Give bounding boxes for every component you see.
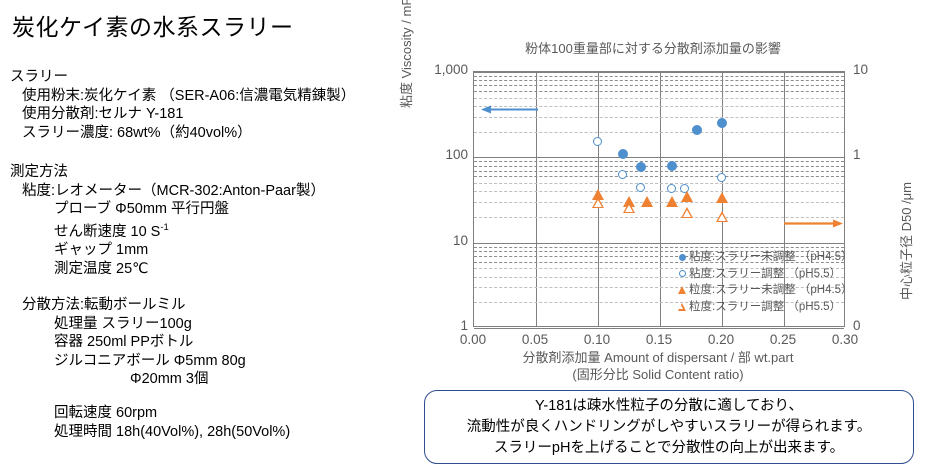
legend-label: 粒度:スラリー未調整 （pH4.5） xyxy=(689,282,853,299)
data-point-circle-open xyxy=(593,137,602,146)
method-shear-rate-label: せん断速度 10 S xyxy=(54,224,160,240)
legend-label: 粘度:スラリー未調整 （pH4.5） xyxy=(689,249,853,266)
legend-item[interactable]: 粒度:スラリー未調整 （pH4.5） xyxy=(675,282,853,299)
x-axis-tick: 0.00 xyxy=(443,332,503,347)
circle-open-icon xyxy=(675,270,689,277)
y-axis-left-tick: 1,000 xyxy=(410,62,468,77)
slurry-spec-block: スラリー 使用粉末:炭化ケイ素 （SER-A06:信濃電気精錬製） 使用分散剤:… xyxy=(10,68,355,142)
x-axis-tick: 0.05 xyxy=(505,332,565,347)
legend-item[interactable]: 粒度:スラリー調整 （pH5.5） xyxy=(675,299,853,316)
x-axis-tick: 0.15 xyxy=(629,332,689,347)
x-axis-label-main: 分散剤添加量 Amount of dispersant / 部 wt.part xyxy=(438,349,878,366)
data-point-triangle-filled xyxy=(716,192,728,203)
chart-title: 粉体100重量部に対する分散剤添加量の影響 xyxy=(418,38,888,57)
data-point-triangle-open xyxy=(681,207,693,218)
dispersion-heading: 分散方法:転動ボールミル xyxy=(10,296,290,315)
callout-line: 流動性が良くハンドリングがしやすいスラリーが得られます。 xyxy=(467,417,871,438)
conclusion-callout: Y-181は疎水性粒子の分散に適しており、 流動性が良くハンドリングがしやすいス… xyxy=(424,390,914,464)
plot-area: 粘度:スラリー未調整 （pH4.5） 粘度:スラリー調整 （pH5.5） 粒度:… xyxy=(473,71,845,327)
horizontal-gridline-major xyxy=(474,328,844,329)
method-shear-rate: せん断速度 10 S-1 xyxy=(10,219,325,241)
method-heading: 測定方法 xyxy=(10,163,325,182)
chart-legend: 粘度:スラリー未調整 （pH4.5） 粘度:スラリー調整 （pH5.5） 粒度:… xyxy=(675,249,853,315)
dispersion-balls: ジルコニアボール Φ5mm 80g xyxy=(10,352,290,371)
x-axis-tick: 0.10 xyxy=(567,332,627,347)
callout-line: スラリーpHを上げることで分散性の向上が出来ます。 xyxy=(494,438,844,459)
y-axis-right-tick: 0 xyxy=(853,318,893,333)
horizontal-gridline-minor xyxy=(474,171,844,172)
dispersion-vessel: 容器 250ml PPボトル xyxy=(10,333,290,352)
data-point-triangle-filled xyxy=(641,196,653,207)
data-point-triangle-open xyxy=(592,197,604,208)
circle-filled-icon xyxy=(675,254,689,261)
x-axis-label-sub: (固形分比 Solid Content ratio) xyxy=(438,366,878,383)
triangle-open-icon xyxy=(675,303,689,311)
horizontal-gridline-minor xyxy=(474,191,844,192)
horizontal-gridline-major xyxy=(474,243,844,244)
method-viscometer: 粘度:レオメーター（MCR-302:Anton-Paar製） xyxy=(10,182,325,201)
legend-item[interactable]: 粘度:スラリー調整 （pH5.5） xyxy=(675,266,853,283)
y-axis-left-tick: 100 xyxy=(410,147,468,162)
info-panel: 炭化ケイ素の水系スラリー スラリー 使用粉末:炭化ケイ素 （SER-A06:信濃… xyxy=(0,0,418,472)
y-axis-left-label: 粘度 Viscosity / mPa·s xyxy=(396,0,415,108)
horizontal-gridline-minor xyxy=(474,202,844,203)
horizontal-gridline-minor xyxy=(474,117,844,118)
horizontal-gridline-minor xyxy=(474,76,844,77)
horizontal-gridline-minor xyxy=(474,132,844,133)
chart-panel: 粉体100重量部に対する分散剤添加量の影響 粘度 Viscosity / mPa… xyxy=(418,0,926,382)
horizontal-gridline-major xyxy=(474,157,844,158)
horizontal-gridline-minor xyxy=(474,161,844,162)
particle-size-axis-arrow-icon xyxy=(782,219,844,228)
method-temperature: 測定温度 25℃ xyxy=(10,260,325,279)
horizontal-gridline-minor xyxy=(474,166,844,167)
dispersion-rotation: 回転速度 60rpm xyxy=(10,389,290,423)
dispersion-method-block: 分散方法:転動ボールミル 処理量 スラリー100g 容器 250ml PPボトル… xyxy=(10,296,290,441)
horizontal-gridline-minor xyxy=(474,176,844,177)
data-point-triangle-filled xyxy=(666,196,678,207)
method-gap: ギャップ 1mm xyxy=(10,241,325,260)
horizontal-gridline-minor xyxy=(474,80,844,81)
callout-line: Y-181は疎水性粒子の分散に適しており、 xyxy=(535,396,803,417)
horizontal-gridline-minor xyxy=(474,247,844,248)
data-point-circle-open xyxy=(717,173,726,182)
horizontal-gridline-minor xyxy=(474,98,844,99)
horizontal-gridline-minor xyxy=(474,217,844,218)
measurement-method-block: 測定方法 粘度:レオメーター（MCR-302:Anton-Paar製） プローブ… xyxy=(10,163,325,278)
data-markers xyxy=(474,66,844,92)
dispersion-amount: 処理量 スラリー100g xyxy=(10,315,290,334)
method-probe: プローブ Φ50mm 平行円盤 xyxy=(10,200,325,219)
y-axis-right-tick: 1 xyxy=(853,147,893,162)
data-point-circle-filled xyxy=(667,161,677,171)
slurry-line: 使用分散剤:セルナ Y-181 xyxy=(10,105,355,124)
data-point-triangle-open xyxy=(623,202,635,213)
horizontal-gridline-minor xyxy=(474,183,844,184)
data-point-circle-filled xyxy=(692,125,702,135)
data-point-circle-open xyxy=(618,170,627,179)
x-axis-tick: 0.30 xyxy=(815,332,875,347)
slurry-line: スラリー濃度: 68wt%（約40vol%） xyxy=(10,124,355,143)
dispersion-balls-2: Φ20mm 3個 xyxy=(10,370,290,389)
y-axis-left-tick: 1 xyxy=(410,318,468,333)
legend-label: 粒度:スラリー調整 （pH5.5） xyxy=(689,299,841,316)
horizontal-gridline-minor xyxy=(474,85,844,86)
horizontal-gridline-minor xyxy=(474,91,844,92)
x-axis-tick: 0.20 xyxy=(691,332,751,347)
page-title: 炭化ケイ素の水系スラリー xyxy=(12,8,294,42)
y-axis-right-tick: 10 xyxy=(853,62,893,77)
slurry-heading: スラリー xyxy=(10,68,355,87)
method-shear-rate-exponent: -1 xyxy=(160,222,168,233)
data-point-triangle-filled xyxy=(681,191,693,202)
horizontal-gridline-major xyxy=(474,72,844,73)
data-point-triangle-open xyxy=(716,211,728,222)
dispersion-time: 処理時間 18h(40Vol%), 28h(50Vol%) xyxy=(10,423,290,442)
triangle-filled-icon xyxy=(675,286,689,294)
viscosity-axis-arrow-icon xyxy=(480,105,540,114)
y-axis-left-tick: 10 xyxy=(410,233,468,248)
x-axis-label: 分散剤添加量 Amount of dispersant / 部 wt.part … xyxy=(438,349,878,383)
x-axis-tick: 0.25 xyxy=(753,332,813,347)
y-axis-right-label: 中心粒子径 D50 /μm xyxy=(896,182,915,300)
data-point-circle-filled xyxy=(717,118,727,128)
legend-item[interactable]: 粘度:スラリー未調整 （pH4.5） xyxy=(675,249,853,266)
data-point-circle-filled xyxy=(636,162,646,172)
legend-label: 粘度:スラリー調整 （pH5.5） xyxy=(689,266,841,283)
slurry-line: 使用粉末:炭化ケイ素 （SER-A06:信濃電気精錬製） xyxy=(10,87,355,106)
data-point-circle-filled xyxy=(618,149,628,159)
